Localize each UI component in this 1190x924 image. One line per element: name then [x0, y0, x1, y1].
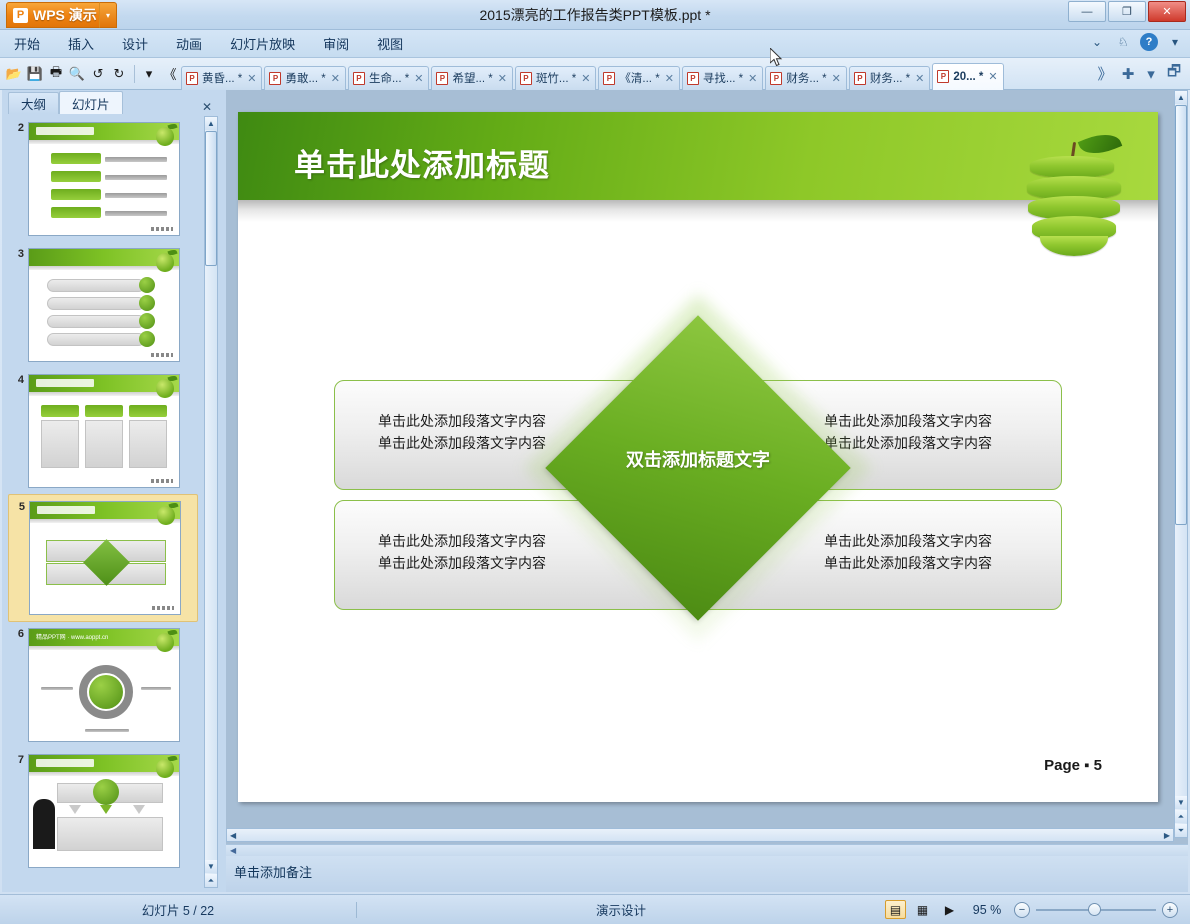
- slides-outline-panel: 大纲 幻灯片 ✕ 2: [2, 90, 220, 892]
- new-tab-dropdown-icon[interactable]: ▾: [1141, 63, 1161, 85]
- apple-icon: [156, 633, 174, 652]
- down-arrow-icon: [133, 805, 145, 814]
- notes-placeholder: 单击添加备注: [234, 865, 312, 880]
- print-icon[interactable]: 🖶: [46, 63, 66, 85]
- doc-tab-label: 生命... *: [369, 70, 409, 86]
- doc-tab-9-active[interactable]: P 20... * ✕: [932, 63, 1003, 90]
- doc-tab-label: 财务... *: [786, 70, 826, 86]
- zoom-level-label: 95 %: [966, 903, 1008, 917]
- open-documents-tabs: P 黄昏... * ✕ P 勇敢... * ✕ P 生命... * ✕ P 希望…: [181, 58, 1095, 90]
- doc-tab-label: 希望... *: [452, 70, 492, 86]
- thumb-shape: [105, 211, 167, 216]
- thumb-shape: [139, 313, 155, 329]
- slide-preview[interactable]: [28, 754, 180, 868]
- doc-tab-8[interactable]: P 财务... * ✕: [849, 66, 930, 90]
- close-icon[interactable]: ✕: [413, 72, 423, 85]
- thumb-shape: [89, 675, 123, 709]
- next-slide-icon[interactable]: ⏷: [1175, 824, 1187, 837]
- new-tab-icon[interactable]: ✚: [1118, 63, 1138, 85]
- slide-sorter-button[interactable]: ▦: [912, 900, 933, 919]
- down-arrow-icon: [69, 805, 81, 814]
- panel-tab-slides[interactable]: 幻灯片: [59, 91, 123, 114]
- thumb-footer: [151, 227, 173, 231]
- scroll-up-icon[interactable]: ▲: [205, 117, 217, 130]
- zoom-slider-handle[interactable]: [1088, 903, 1101, 916]
- thumb-shape: [85, 405, 123, 417]
- slide-title-placeholder[interactable]: 单击此处添加标题: [294, 140, 550, 185]
- ribbon-tab-slideshow[interactable]: 幻灯片放映: [216, 31, 309, 57]
- wps-app-label: WPS 演示: [33, 5, 97, 25]
- minimize-button[interactable]: —: [1068, 1, 1106, 22]
- doc-tab-0[interactable]: P 黄昏... * ✕: [181, 66, 262, 90]
- doc-tab-4[interactable]: P 斑竹... * ✕: [515, 66, 596, 90]
- doc-tab-2[interactable]: P 生命... * ✕: [348, 66, 429, 90]
- doc-tab-7[interactable]: P 财务... * ✕: [765, 66, 846, 90]
- apple-slice: [1040, 236, 1108, 256]
- panel-tab-strip: 大纲 幻灯片 ✕: [2, 90, 220, 114]
- thumb-shape: [85, 420, 123, 468]
- panel-tab-outline[interactable]: 大纲: [8, 92, 59, 114]
- thumb-shape: [57, 817, 163, 851]
- slide-preview[interactable]: [28, 248, 180, 362]
- scroll-down-icon[interactable]: ▼: [1175, 796, 1187, 809]
- thumb-shape: [41, 420, 79, 468]
- thumb-shape: [93, 779, 119, 805]
- thumb-shape: [139, 295, 155, 311]
- thumb-shape: [139, 277, 155, 293]
- thumb-shape: [41, 687, 73, 690]
- thumb-shape: [47, 333, 145, 346]
- zoom-slider[interactable]: [1036, 903, 1156, 917]
- thumb-shape: [51, 171, 101, 182]
- thumb-title-placeholder: [36, 379, 94, 387]
- notes-pane[interactable]: 单击添加备注: [226, 856, 1188, 892]
- scroll-left-icon[interactable]: ◀: [227, 831, 236, 840]
- slide-preview[interactable]: [28, 122, 180, 236]
- ppt-file-icon: P: [269, 72, 281, 85]
- scroll-down-icon[interactable]: ▼: [205, 860, 217, 873]
- wps-app-menu-button[interactable]: P WPS 演示: [6, 2, 106, 28]
- scrollbar-thumb[interactable]: [1175, 105, 1187, 525]
- thumb-footer: [151, 353, 173, 357]
- design-status-label[interactable]: 演示设计: [357, 900, 885, 919]
- content-line: 单击此处添加段落文字内容: [824, 410, 992, 432]
- thumb-shape: [105, 193, 167, 198]
- ribbon-tab-insert[interactable]: 插入: [54, 31, 108, 57]
- document-title: 2015漂亮的工作报告类PPT模板.ppt *: [0, 0, 1190, 30]
- slide-number: 2: [12, 122, 28, 236]
- scroll-right-icon[interactable]: ▶: [1164, 831, 1173, 840]
- slide-number: 3: [12, 248, 28, 362]
- apple-slice: [1030, 156, 1114, 178]
- customize-icon[interactable]: ▾: [139, 63, 159, 85]
- maximize-button[interactable]: ❐: [1108, 1, 1146, 22]
- close-icon[interactable]: ✕: [246, 72, 256, 85]
- thumb-site-label: 精品PPT网 · www.aoppt.cn: [36, 632, 108, 641]
- scrollbar-thumb[interactable]: [205, 131, 217, 266]
- thumb-shape: [129, 420, 167, 468]
- scroll-up-icon[interactable]: ▲: [1175, 91, 1187, 104]
- thumb-shape: [51, 153, 101, 164]
- slide-thumbnail-6[interactable]: 6 精品PPT网 · www.aoppt.cn: [8, 622, 198, 748]
- thumbnail-scrollbar[interactable]: ▲ ▼ ⏶: [204, 116, 218, 888]
- doc-tab-5[interactable]: P 《清... * ✕: [598, 66, 679, 90]
- slide-thumbnail-5-selected[interactable]: 5: [8, 494, 198, 622]
- thumb-shape: [51, 189, 101, 200]
- zoom-in-button[interactable]: +: [1162, 902, 1178, 918]
- slide-preview[interactable]: [29, 501, 181, 615]
- slide-preview[interactable]: 精品PPT网 · www.aoppt.cn: [28, 628, 180, 742]
- document-tab-bar: 📂 💾 🖶 🔍 ↺ ↻ ▾ 《 P 黄昏... * ✕ P 勇敢... * ✕ …: [0, 58, 1190, 90]
- diamond-title-placeholder[interactable]: 双击添加标题文字: [590, 446, 806, 472]
- wps-logo-icon: P: [13, 8, 28, 23]
- apple-icon: [156, 759, 174, 778]
- apple-illustration: [1026, 132, 1122, 254]
- down-arrow-icon: [100, 805, 112, 814]
- redo-icon[interactable]: ↻: [109, 63, 129, 85]
- slide-thumbnail-4[interactable]: 4: [8, 368, 198, 494]
- slide-vertical-scrollbar[interactable]: ▲ ▼ ⏶ ⏷: [1174, 90, 1188, 838]
- doc-tab-label: 20... *: [953, 71, 983, 83]
- doc-tab-label: 黄昏... *: [202, 70, 242, 86]
- thumb-footer: [151, 479, 173, 483]
- doc-tab-label: 财务... *: [870, 70, 910, 86]
- ppt-file-icon: P: [603, 72, 615, 85]
- save-icon[interactable]: 💾: [25, 63, 45, 85]
- previous-slide-icon[interactable]: ⏶: [1175, 810, 1187, 823]
- apple-icon: [156, 127, 174, 146]
- doc-tab-1[interactable]: P 勇敢... * ✕: [264, 66, 345, 90]
- chevron-down-icon[interactable]: ⌄: [1088, 33, 1106, 51]
- ribbon-tab-view[interactable]: 视图: [363, 31, 417, 57]
- status-bar: 幻灯片 5 / 22 演示设计 ▤ ▦ ▶ 95 % − +: [0, 894, 1190, 924]
- undo-icon[interactable]: ↺: [88, 63, 108, 85]
- thumb-shape: [129, 405, 167, 417]
- thumb-title-placeholder: [37, 506, 95, 514]
- slide-thumbnail-3[interactable]: 3: [8, 242, 198, 368]
- ribbon-menu-bar: 开始 插入 设计 动画 幻灯片放映 审阅 视图 ⌄ ♘ ? ▾: [0, 30, 1190, 58]
- ppt-file-icon: P: [687, 72, 699, 85]
- collapse-ribbon-icon[interactable]: 《: [160, 63, 180, 85]
- close-icon[interactable]: ✕: [664, 72, 674, 85]
- thumb-shape: [85, 729, 129, 732]
- doc-tab-3[interactable]: P 希望... * ✕: [431, 66, 512, 90]
- doc-tab-label: 斑竹... *: [536, 70, 576, 86]
- collapse-notes-icon[interactable]: ◀: [230, 846, 236, 855]
- ppt-file-icon: P: [353, 72, 365, 85]
- apple-icon: [156, 379, 174, 398]
- open-icon[interactable]: 📂: [4, 63, 24, 85]
- toolbar-divider: [134, 65, 135, 83]
- help-icon[interactable]: ?: [1140, 33, 1158, 51]
- wps-app-menu-caret[interactable]: ▾: [99, 2, 117, 28]
- content-line: 单击此处添加段落文字内容: [824, 552, 992, 574]
- close-icon[interactable]: ✕: [831, 72, 841, 85]
- close-icon[interactable]: ✕: [202, 100, 212, 114]
- thumb-shape: [47, 315, 145, 328]
- title-bar: 2015漂亮的工作报告类PPT模板.ppt * P WPS 演示 ▾ — ❐ ✕: [0, 0, 1190, 30]
- doc-tab-label: 勇敢... *: [285, 70, 325, 86]
- close-icon[interactable]: ✕: [987, 70, 997, 83]
- normal-view-button[interactable]: ▤: [885, 900, 906, 919]
- tab-bar-controls: 》 ✚ ▾ 🗗: [1095, 63, 1190, 85]
- print-preview-icon[interactable]: 🔍: [67, 63, 87, 85]
- close-icon[interactable]: ✕: [747, 72, 757, 85]
- ribbon-right-icons: ⌄ ♘ ? ▾: [1088, 33, 1184, 51]
- slide-horizontal-scrollbar[interactable]: ◀ ▶: [226, 828, 1174, 842]
- status-right-controls: ▤ ▦ ▶ 95 % − +: [885, 900, 1190, 919]
- thumb-shape: [47, 279, 145, 292]
- content-line: 单击此处添加段落文字内容: [378, 410, 546, 432]
- thumb-shape: [41, 405, 79, 417]
- close-icon[interactable]: ✕: [497, 72, 507, 85]
- doc-tab-label: 寻找... *: [703, 70, 743, 86]
- close-icon[interactable]: ✕: [914, 72, 924, 85]
- content-line: 单击此处添加段落文字内容: [378, 552, 546, 574]
- slide-number: 6: [12, 628, 28, 742]
- thumb-shape: [141, 687, 171, 690]
- skin-icon[interactable]: ♘: [1114, 33, 1132, 51]
- close-button[interactable]: ✕: [1148, 1, 1186, 22]
- person-silhouette-icon: [33, 799, 55, 849]
- tab-overflow-icon[interactable]: 》: [1095, 63, 1115, 85]
- content-line: 单击此处添加段落文字内容: [824, 530, 992, 552]
- zoom-out-button[interactable]: −: [1014, 902, 1030, 918]
- slide-number: 4: [12, 374, 28, 488]
- quad-diagram: 单击此处添加段落文字内容 单击此处添加段落文字内容 单击此处添加段落文字内容 单…: [334, 380, 1062, 610]
- ppt-file-icon: P: [186, 72, 198, 85]
- content-text-bottom-right[interactable]: 单击此处添加段落文字内容 单击此处添加段落文字内容: [824, 530, 992, 574]
- ppt-file-icon: P: [770, 72, 782, 85]
- thumb-shape: [51, 207, 101, 218]
- slide-edit-area: 单击此处添加标题 单击此处添加段落文字内容 单击此处添加段落文字内容 单击此处添…: [226, 90, 1188, 852]
- ppt-file-icon: P: [854, 72, 866, 85]
- current-slide-canvas[interactable]: 单击此处添加标题 单击此处添加段落文字内容 单击此处添加段落文字内容 单击此处添…: [238, 112, 1158, 802]
- ribbon-tab-design[interactable]: 设计: [108, 31, 162, 57]
- slide-banner-shadow: [238, 200, 1158, 222]
- close-icon[interactable]: ✕: [580, 72, 590, 85]
- doc-tab-6[interactable]: P 寻找... * ✕: [682, 66, 763, 90]
- slide-thumbnail-2[interactable]: 2: [8, 116, 198, 242]
- thumb-footer: [152, 606, 174, 610]
- thumb-shape: [47, 297, 145, 310]
- slide-thumbnail-7[interactable]: 7: [8, 748, 198, 874]
- slide-thumbnail-list[interactable]: 2 3: [8, 116, 214, 888]
- thumb-shape: [139, 331, 155, 347]
- thumb-shape: [105, 175, 167, 180]
- ribbon-tab-review[interactable]: 审阅: [309, 31, 363, 57]
- content-text-bottom-left[interactable]: 单击此处添加段落文字内容 单击此处添加段落文字内容: [378, 530, 546, 574]
- thumb-shape: [105, 157, 167, 162]
- apple-icon: [157, 506, 175, 525]
- slide-page-number: Page ▪ 5: [1044, 757, 1102, 774]
- content-text-top-left[interactable]: 单击此处添加段落文字内容 单击此处添加段落文字内容: [378, 410, 546, 454]
- thumb-title-placeholder: [36, 127, 94, 135]
- ribbon-tab-animation[interactable]: 动画: [162, 31, 216, 57]
- ppt-file-icon: P: [436, 72, 448, 85]
- close-icon[interactable]: ✕: [330, 72, 340, 85]
- ppt-file-icon: P: [520, 72, 532, 85]
- ribbon-tab-home[interactable]: 开始: [0, 31, 54, 57]
- content-line: 单击此处添加段落文字内容: [378, 530, 546, 552]
- apple-icon: [156, 253, 174, 272]
- thumb-title-placeholder: [36, 759, 94, 767]
- slide-counter: 幻灯片 5 / 22: [0, 900, 356, 919]
- dropdown-icon[interactable]: ▾: [1166, 33, 1184, 51]
- window-controls: — ❐ ✕: [1068, 1, 1186, 22]
- slide-preview[interactable]: [28, 374, 180, 488]
- slide-number: 7: [12, 754, 28, 868]
- ppt-file-icon: P: [937, 70, 949, 83]
- previous-slide-icon[interactable]: ⏶: [205, 874, 217, 887]
- window-list-icon[interactable]: 🗗: [1164, 63, 1184, 85]
- slide-number: 5: [13, 501, 29, 615]
- slideshow-button[interactable]: ▶: [939, 900, 960, 919]
- content-line: 单击此处添加段落文字内容: [378, 432, 546, 454]
- notes-splitter[interactable]: ◀: [226, 844, 1188, 856]
- doc-tab-label: 《清... *: [619, 70, 659, 86]
